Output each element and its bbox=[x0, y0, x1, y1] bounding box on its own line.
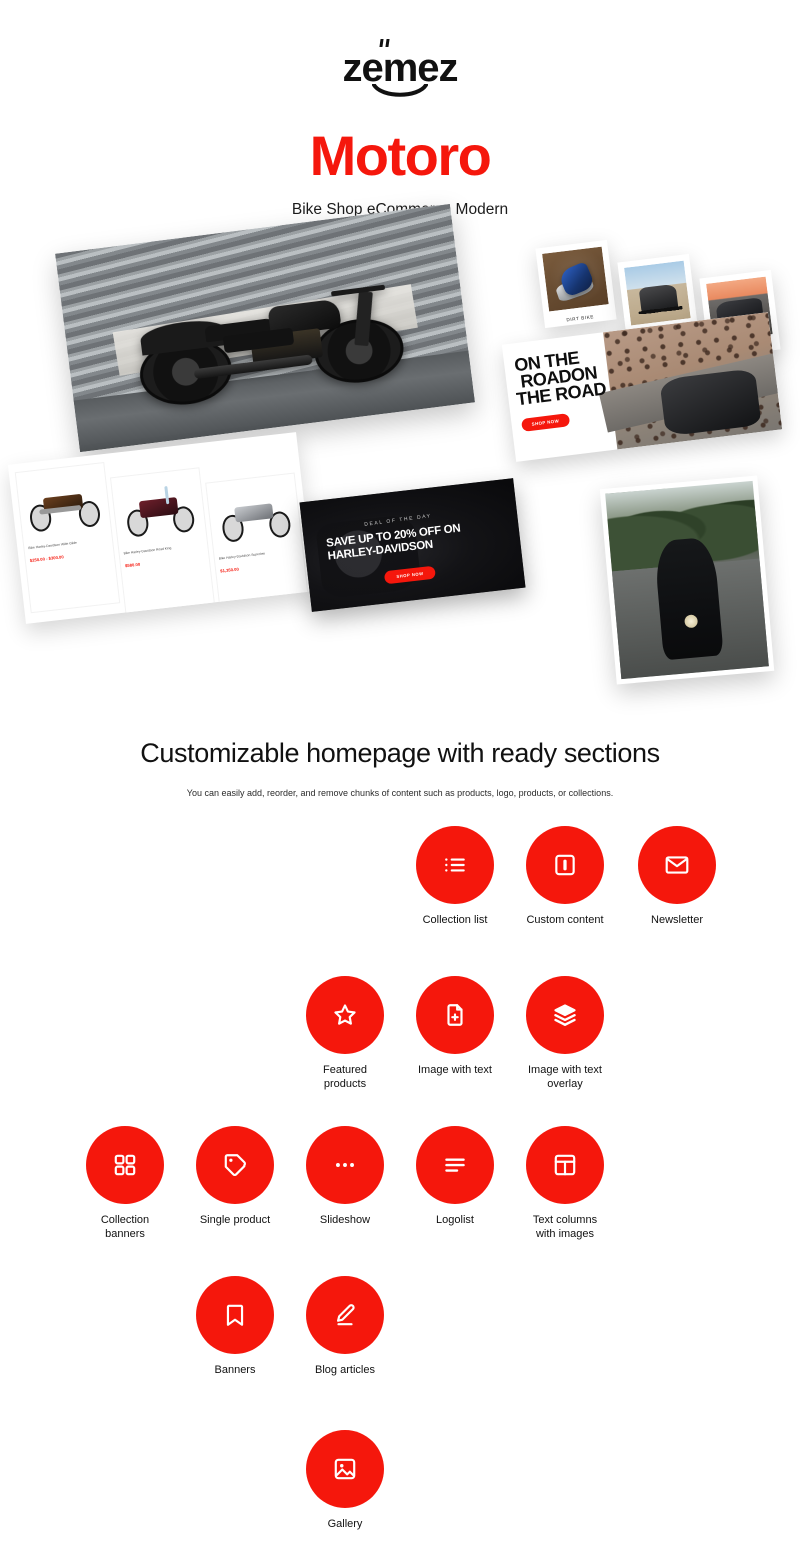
grid-icon bbox=[86, 1126, 164, 1204]
section-feature-custom-content[interactable]: Custom content bbox=[510, 826, 620, 928]
feature-label: Featured products bbox=[290, 1064, 400, 1092]
sections-heading: Customizable homepage with ready section… bbox=[0, 738, 800, 769]
category-image bbox=[624, 261, 691, 326]
product-name: Bike Harley-Davidson Wide Glide bbox=[28, 537, 110, 551]
feature-label: Slideshow bbox=[290, 1214, 400, 1228]
feature-label: Image with text overlay bbox=[510, 1064, 620, 1092]
section-feature-gallery[interactable]: Gallery bbox=[290, 1430, 400, 1532]
sections-subheading: You can easily add, reorder, and remove … bbox=[0, 788, 800, 798]
feature-label: Single product bbox=[180, 1214, 290, 1228]
featured-products-row: Bike Harley-Davidson Wide Glide $250.00 … bbox=[8, 432, 314, 624]
section-feature-logolist[interactable]: Logolist bbox=[400, 1126, 510, 1228]
section-feature-image-with-text-overlay[interactable]: Image with text overlay bbox=[510, 976, 620, 1092]
product-price: $1,350.00 bbox=[220, 559, 302, 573]
tag-icon bbox=[196, 1126, 274, 1204]
section-feature-image-with-text[interactable]: Image with text bbox=[400, 976, 510, 1078]
hero-collage: DIRT BIKE CRUISER SPORT BIKE ON THE bbox=[0, 218, 800, 718]
feature-label: Banners bbox=[180, 1364, 290, 1378]
file-plus-icon bbox=[416, 976, 494, 1054]
product-card[interactable]: Bike Harley-Davidson Road King $580.00 bbox=[110, 467, 215, 618]
section-feature-newsletter[interactable]: Newsletter bbox=[622, 826, 732, 928]
deal-of-the-day-banner: DEAL OF THE DAY SAVE UP TO 20% OFF ON HA… bbox=[299, 478, 525, 612]
feature-label: Custom content bbox=[510, 914, 620, 928]
category-label: DIRT BIKE bbox=[544, 311, 616, 325]
feature-label: Gallery bbox=[290, 1518, 400, 1532]
product-name: Bike Harley-Davidson Road King bbox=[123, 542, 205, 556]
envelope-icon bbox=[638, 826, 716, 904]
section-feature-text-columns-with-images[interactable]: Text columns with images bbox=[510, 1126, 620, 1242]
section-feature-featured-products[interactable]: Featured products bbox=[290, 976, 400, 1092]
custom-content-icon bbox=[526, 826, 604, 904]
page-title: Motoro bbox=[0, 128, 800, 184]
section-feature-single-product[interactable]: Single product bbox=[180, 1126, 290, 1228]
product-image bbox=[21, 471, 109, 540]
menu-icon bbox=[416, 1126, 494, 1204]
zemez-logo-text: zemez bbox=[342, 46, 457, 90]
star-icon bbox=[306, 976, 384, 1054]
product-name: Bike Harley-Davidson Superlow bbox=[219, 547, 301, 561]
product-image bbox=[211, 482, 299, 551]
feature-label: Blog articles bbox=[290, 1364, 400, 1378]
section-feature-blog-articles[interactable]: Blog articles bbox=[290, 1276, 400, 1378]
section-feature-slideshow[interactable]: Slideshow bbox=[290, 1126, 400, 1228]
page-root: zemez Motoro Bike Shop eCommerce ModernS… bbox=[0, 0, 800, 1563]
section-feature-banners[interactable]: Banners bbox=[180, 1276, 290, 1378]
rider-photo-card bbox=[600, 475, 774, 684]
feature-label: Text columns with images bbox=[510, 1214, 620, 1242]
on-the-road-banner: ON THE ROADON THE ROAD SHOP NOW bbox=[502, 312, 782, 462]
product-name: Motoro bbox=[310, 124, 491, 187]
list-icon bbox=[416, 826, 494, 904]
section-feature-collection-list[interactable]: Collection list bbox=[400, 826, 510, 928]
category-card-dirt-bike[interactable]: DIRT BIKE bbox=[535, 240, 616, 328]
layers-icon bbox=[526, 976, 604, 1054]
product-price: $580.00 bbox=[125, 554, 207, 568]
category-image bbox=[542, 247, 609, 312]
rider-image bbox=[605, 481, 769, 679]
layout-icon bbox=[526, 1126, 604, 1204]
banner-shop-now-button[interactable]: SHOP NOW bbox=[521, 413, 570, 432]
pencil-icon bbox=[306, 1276, 384, 1354]
product-card[interactable]: Bike Harley-Davidson Wide Glide $250.00 … bbox=[15, 462, 120, 613]
hero-screenshot-main bbox=[55, 204, 475, 452]
product-image bbox=[116, 477, 204, 546]
umlaut-icon bbox=[380, 39, 389, 47]
dots-icon bbox=[306, 1126, 384, 1204]
brand-logo[interactable]: zemez bbox=[0, 48, 800, 97]
feature-label: Newsletter bbox=[622, 914, 732, 928]
product-price: $250.00 - $300.00 bbox=[30, 549, 112, 563]
sections-icon-grid: Collection listCustom contentNewsletterF… bbox=[0, 826, 800, 1556]
product-card[interactable]: Bike Harley-Davidson Superlow $1,350.00 bbox=[205, 473, 310, 624]
feature-label: Collection banners bbox=[70, 1214, 180, 1242]
zemez-wordmark: zemez bbox=[342, 48, 457, 88]
feature-label: Logolist bbox=[400, 1214, 510, 1228]
bookmark-icon bbox=[196, 1276, 274, 1354]
section-feature-collection-banners[interactable]: Collection banners bbox=[70, 1126, 180, 1242]
feature-label: Collection list bbox=[400, 914, 510, 928]
image-icon bbox=[306, 1430, 384, 1508]
feature-label: Image with text bbox=[400, 1064, 510, 1078]
